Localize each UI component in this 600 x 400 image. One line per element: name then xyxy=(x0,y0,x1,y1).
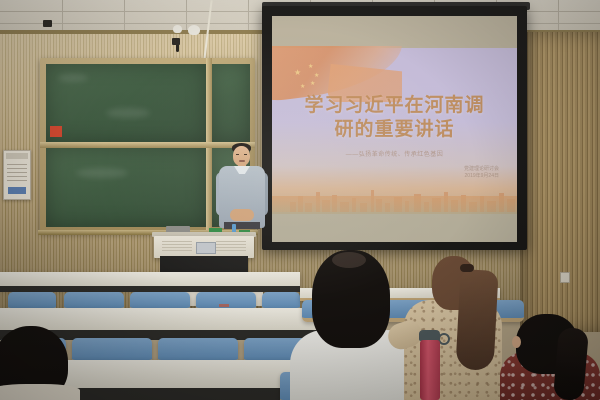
dome-camera-icon xyxy=(188,25,200,35)
student-floral-beige-hairtie xyxy=(460,264,474,272)
red-card-magnet xyxy=(50,126,62,137)
panel-buttons[interactable] xyxy=(8,187,26,194)
desk-sticker xyxy=(219,304,229,307)
podium-control-badge[interactable] xyxy=(196,242,216,254)
blackboard-panel-bottom-left xyxy=(46,148,206,227)
slide-subtitle: ——弘扬革命传统、传承红色基因 xyxy=(272,149,517,158)
speaker-hands xyxy=(230,209,254,221)
right-wall-panel xyxy=(520,32,600,332)
lecture-hall-photo: ★ ★ ★ ★ ★ xyxy=(0,0,600,400)
blackboard-panel-top-left xyxy=(46,64,206,142)
camera-junction-box xyxy=(172,38,180,45)
student-white-shirt-hair-highlight xyxy=(332,252,366,268)
blackboard-divider-horizontal xyxy=(40,142,255,148)
water-bottle-body xyxy=(420,340,440,400)
wall-control-panel[interactable] xyxy=(3,150,31,200)
slide-meta: 党建理论研讨会 2019年9月24日 xyxy=(464,166,499,180)
student-partial-shoulder xyxy=(0,384,80,400)
security-camera-icon xyxy=(43,20,52,27)
projection-screen: ★ ★ ★ ★ ★ xyxy=(272,16,517,242)
student-floral-beige-ponytail xyxy=(455,269,498,371)
speaker-belt xyxy=(224,222,260,229)
slide-title-line1: 学习习近平在河南调 xyxy=(272,94,517,118)
wall-socket xyxy=(560,272,570,283)
slide-title: 学习习近平在河南调 研的重要讲话 xyxy=(272,94,517,142)
slide-meta-date: 2019年9月24日 xyxy=(464,173,499,180)
slide-letterbox-top xyxy=(272,16,517,48)
slide-ground-graphic xyxy=(272,196,517,214)
blackboard-panel-top-right xyxy=(212,64,250,142)
slide-title-line2: 研的重要讲话 xyxy=(272,118,517,142)
slide-meta-org: 党建理论研讨会 xyxy=(464,166,499,173)
student-floral-red-ear xyxy=(512,336,521,348)
student-floral-red-ponytail xyxy=(553,327,589,400)
slide-letterbox-bottom xyxy=(272,212,517,242)
dome-camera-secondary-icon xyxy=(173,25,182,33)
